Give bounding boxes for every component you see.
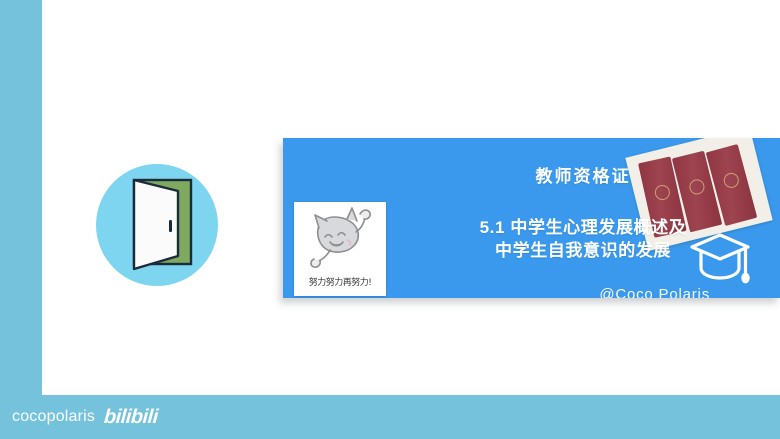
slide-root: 努力努力再努力! 教师资格证 5.1 中学生心理发展概述及 中学生 [0,0,780,439]
watermark-bar: cocopolaris bilibili [0,395,780,439]
watermark-author: cocopolaris [12,408,95,426]
open-door-icon [120,177,194,273]
banner-title: 教师资格证 [403,162,763,187]
banner-subtitle-line-1: 5.1 中学生心理发展概述及 [387,216,779,239]
title-banner: 努力努力再努力! 教师资格证 5.1 中学生心理发展概述及 中学生 [283,138,780,298]
banner-subtitle-line-2: 中学生自我意识的发展 [387,239,779,262]
banner-subtitle: 5.1 中学生心理发展概述及 中学生自我意识的发展 [387,216,779,262]
banner-signature: @Coco Polaris [599,286,710,298]
cat-sticker-caption: 努力努力再努力! [294,275,386,288]
cat-sticker: 努力努力再努力! [294,202,386,296]
bilibili-logo: bilibili [103,406,158,429]
door-badge [96,164,218,286]
